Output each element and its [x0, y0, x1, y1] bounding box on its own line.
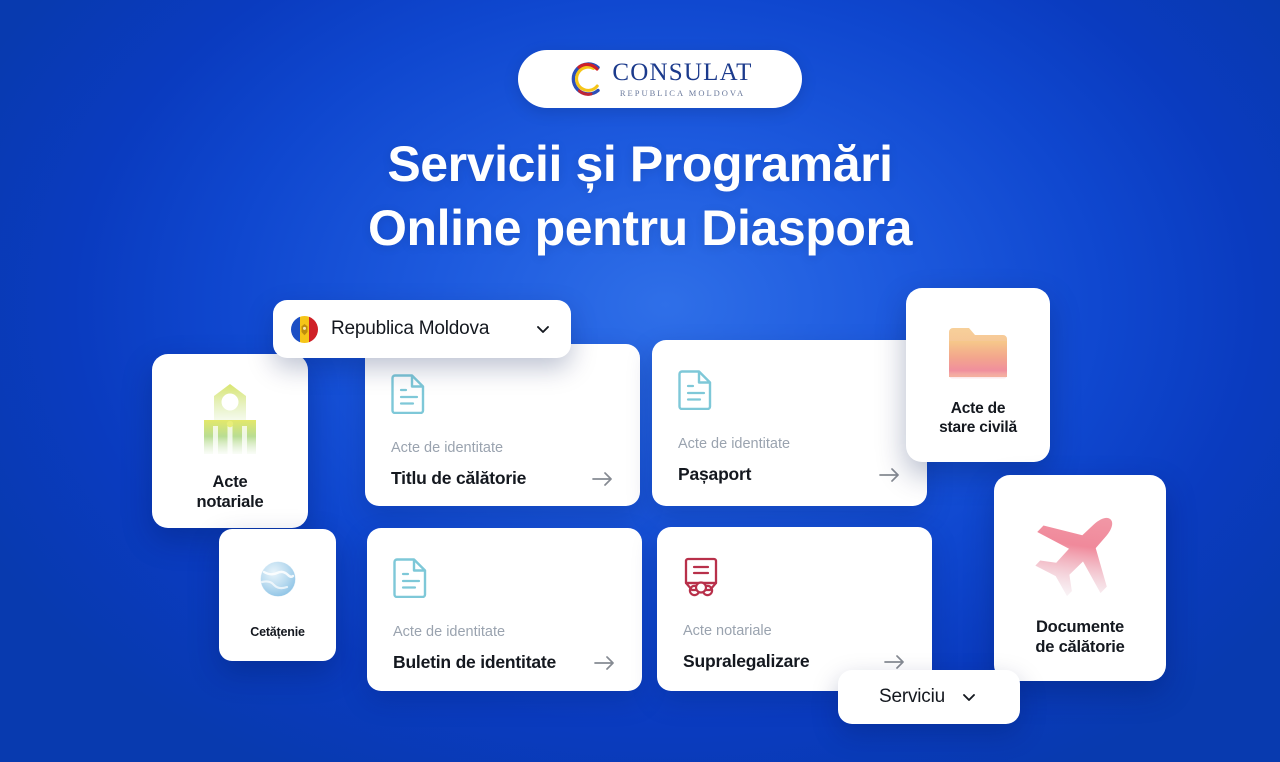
category-tile-label-line1: Acte [197, 472, 264, 492]
service-card-buletin-de-identitate[interactable]: Acte de identitate Buletin de identitate [367, 528, 642, 691]
brand-logo-title: CONSULAT [612, 60, 752, 85]
category-tile-label: Acte notariale [197, 472, 264, 512]
service-card-footer: Titlu de călătorie [391, 468, 614, 489]
arrow-right-icon[interactable] [879, 467, 901, 483]
service-card-pasaport[interactable]: Acte de identitate Pașaport [652, 340, 927, 506]
category-tile-label: Documente de călătorie [1035, 617, 1124, 657]
service-selector-value: Serviciu [879, 686, 945, 708]
service-card-title: Supralegalizare [683, 651, 809, 672]
brand-logo-subtitle: REPUBLICA MOLDOVA [620, 88, 745, 98]
category-tile-label: Cetățenie [250, 625, 304, 640]
category-tile-label-line1: Cetățenie [250, 625, 304, 640]
arrow-right-icon[interactable] [884, 654, 906, 670]
globe-icon [248, 551, 308, 611]
document-icon [391, 372, 427, 414]
country-selector-value: Republica Moldova [331, 318, 489, 340]
service-card-titlu-de-calatorie[interactable]: Acte de identitate Titlu de călătorie [365, 344, 640, 506]
page-title-line2: Online pentru Diaspora [0, 196, 1280, 260]
service-card-title: Pașaport [678, 464, 751, 485]
category-tile-label-line2: notariale [197, 492, 264, 512]
page-title-line1: Servicii și Programări [0, 132, 1280, 196]
folder-icon [939, 316, 1017, 390]
service-card-footer: Buletin de identitate [393, 652, 616, 673]
service-card-title: Buletin de identitate [393, 652, 556, 673]
category-tile-label-line2: stare civilă [939, 419, 1017, 438]
moldova-flag-icon [291, 316, 318, 343]
category-tile-documente-de-calatorie[interactable]: Documente de călătorie [994, 475, 1166, 681]
brand-logo[interactable]: CONSULAT REPUBLICA MOLDOVA [518, 50, 802, 108]
category-tile-label-line1: Documente [1035, 617, 1124, 637]
category-tile-cetatenie[interactable]: Cetățenie [219, 529, 336, 661]
service-card-category: Acte notariale [683, 623, 906, 640]
page-title: Servicii și Programări Online pentru Dia… [0, 132, 1280, 260]
arrow-right-icon[interactable] [592, 471, 614, 487]
chevron-down-icon[interactable] [959, 687, 979, 707]
certificate-seal-icon [683, 555, 719, 597]
arrow-right-icon[interactable] [594, 655, 616, 671]
document-icon [678, 368, 714, 410]
category-tile-label-line2: de călătorie [1035, 637, 1124, 657]
category-tile-label-line1: Acte de [939, 400, 1017, 419]
service-card-category: Acte de identitate [393, 624, 616, 641]
category-tile-acte-notariale[interactable]: Acte notariale [152, 354, 308, 528]
service-card-footer: Pașaport [678, 464, 901, 485]
category-tile-label: Acte de stare civilă [939, 400, 1017, 438]
service-card-supralegalizare[interactable]: Acte notariale Supralegalizare [657, 527, 932, 691]
chevron-down-icon[interactable] [533, 319, 553, 339]
category-tile-acte-de-stare-civila[interactable]: Acte de stare civilă [906, 288, 1050, 462]
airplane-icon [1026, 501, 1134, 605]
consulat-circle-logo-icon [567, 59, 607, 99]
page-root: CONSULAT REPUBLICA MOLDOVA Servicii și P… [0, 0, 1280, 762]
brand-logo-text: CONSULAT REPUBLICA MOLDOVA [612, 60, 752, 98]
service-card-title: Titlu de călătorie [391, 468, 526, 489]
country-selector[interactable]: Republica Moldova [273, 300, 571, 358]
courthouse-icon [184, 376, 276, 462]
service-selector[interactable]: Serviciu [838, 670, 1020, 724]
service-card-category: Acte de identitate [678, 436, 901, 453]
document-icon [393, 556, 429, 598]
service-card-category: Acte de identitate [391, 440, 614, 457]
